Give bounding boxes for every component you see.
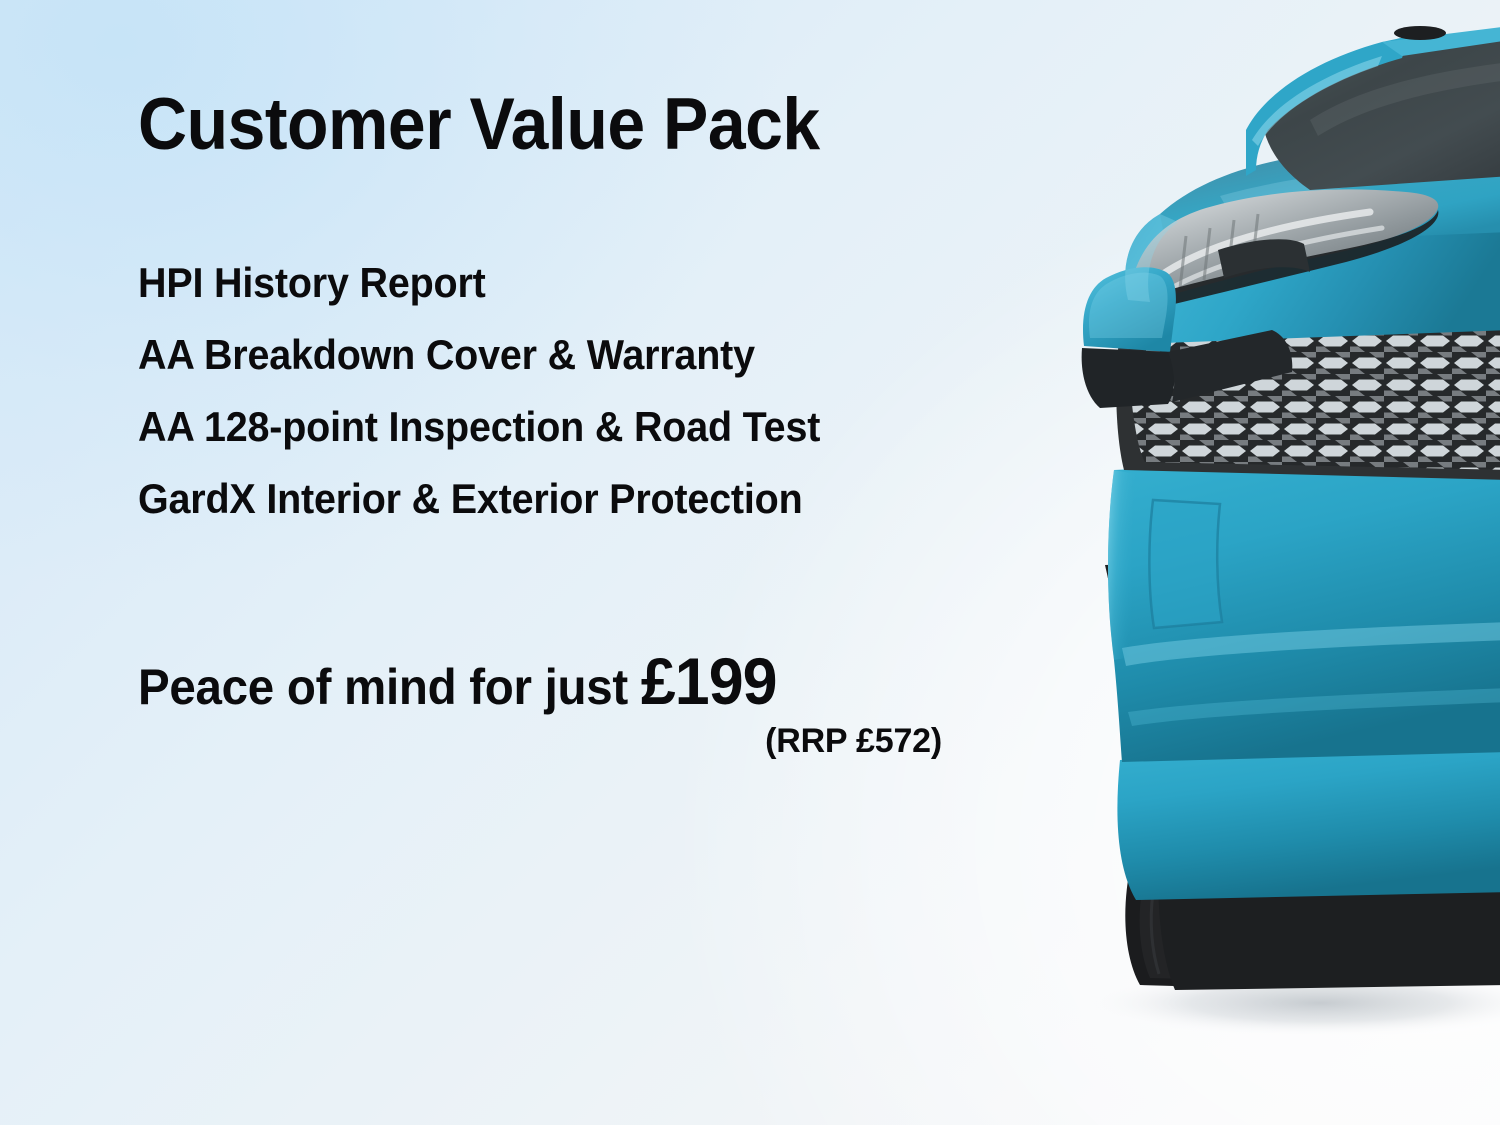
page-title: Customer Value Pack (138, 88, 820, 161)
vehicle-image (1010, 0, 1500, 1125)
price-block: Peace of mind for just £199 (RRP £572) (138, 648, 950, 758)
price-lead-text: Peace of mind for just (138, 659, 641, 715)
price-headline: Peace of mind for just £199 (138, 648, 909, 714)
roof-antenna (1394, 26, 1446, 40)
price-amount: £199 (641, 644, 777, 718)
price-rrp: (RRP £572) (138, 724, 950, 758)
list-item: AA 128-point Inspection & Road Test (138, 406, 820, 448)
feature-list: HPI History Report AA Breakdown Cover & … (138, 262, 864, 520)
fog-lamp-panel (1149, 500, 1222, 628)
promo-banner: Customer Value Pack HPI History Report A… (0, 0, 1500, 1125)
list-item: AA Breakdown Cover & Warranty (138, 334, 820, 376)
mirror-lower-housing (1082, 348, 1175, 408)
list-item: HPI History Report (138, 262, 820, 304)
lower-valance (1117, 742, 1500, 900)
list-item: GardX Interior & Exterior Protection (138, 478, 820, 520)
